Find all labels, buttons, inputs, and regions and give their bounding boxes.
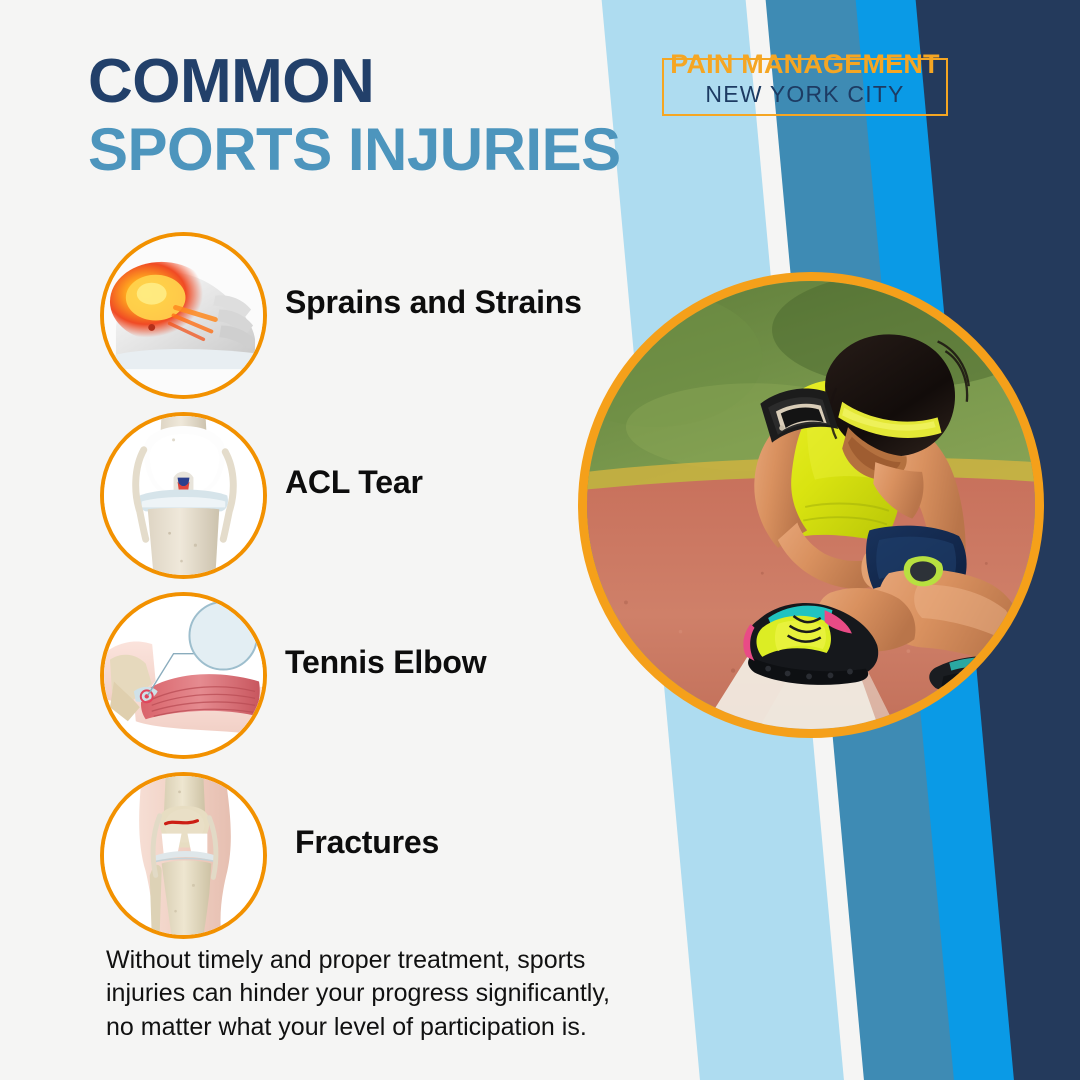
brand-logo: PAIN MANAGEMENT NEW YORK CITY: [662, 58, 948, 116]
injured-runner-photo: [578, 272, 1044, 738]
list-item-fractures: Fractures: [100, 772, 640, 947]
list-item-label: Fractures: [295, 824, 439, 861]
list-item-label: Tennis Elbow: [285, 644, 486, 681]
footer-paragraph: Without timely and proper treatment, spo…: [106, 944, 666, 1044]
page-title: COMMON SPORTS INJURIES: [88, 52, 621, 180]
logo-primary-text: PAIN MANAGEMENT: [662, 49, 948, 80]
knee-acl-tear-icon: [100, 412, 267, 579]
infographic-poster: COMMON SPORTS INJURIES PAIN MANAGEMENT N…: [0, 0, 1080, 1080]
elbow-tendon-icon: [100, 592, 267, 759]
inflamed-foot-icon: [100, 232, 267, 399]
list-item-tennis-elbow: Tennis Elbow: [100, 592, 640, 767]
page-title-line-2: SPORTS INJURIES: [88, 121, 621, 180]
list-item-label: Sprains and Strains: [285, 284, 582, 321]
list-item-sprains-and-strains: Sprains and Strains: [100, 232, 640, 407]
logo-secondary-text: NEW YORK CITY: [662, 81, 948, 108]
knee-fracture-icon: [100, 772, 267, 939]
list-item-label: ACL Tear: [285, 464, 423, 501]
hero-photo-ring: [578, 272, 1044, 738]
list-item-acl-tear: ACL Tear: [100, 412, 640, 587]
page-title-line-1: COMMON: [88, 52, 621, 113]
